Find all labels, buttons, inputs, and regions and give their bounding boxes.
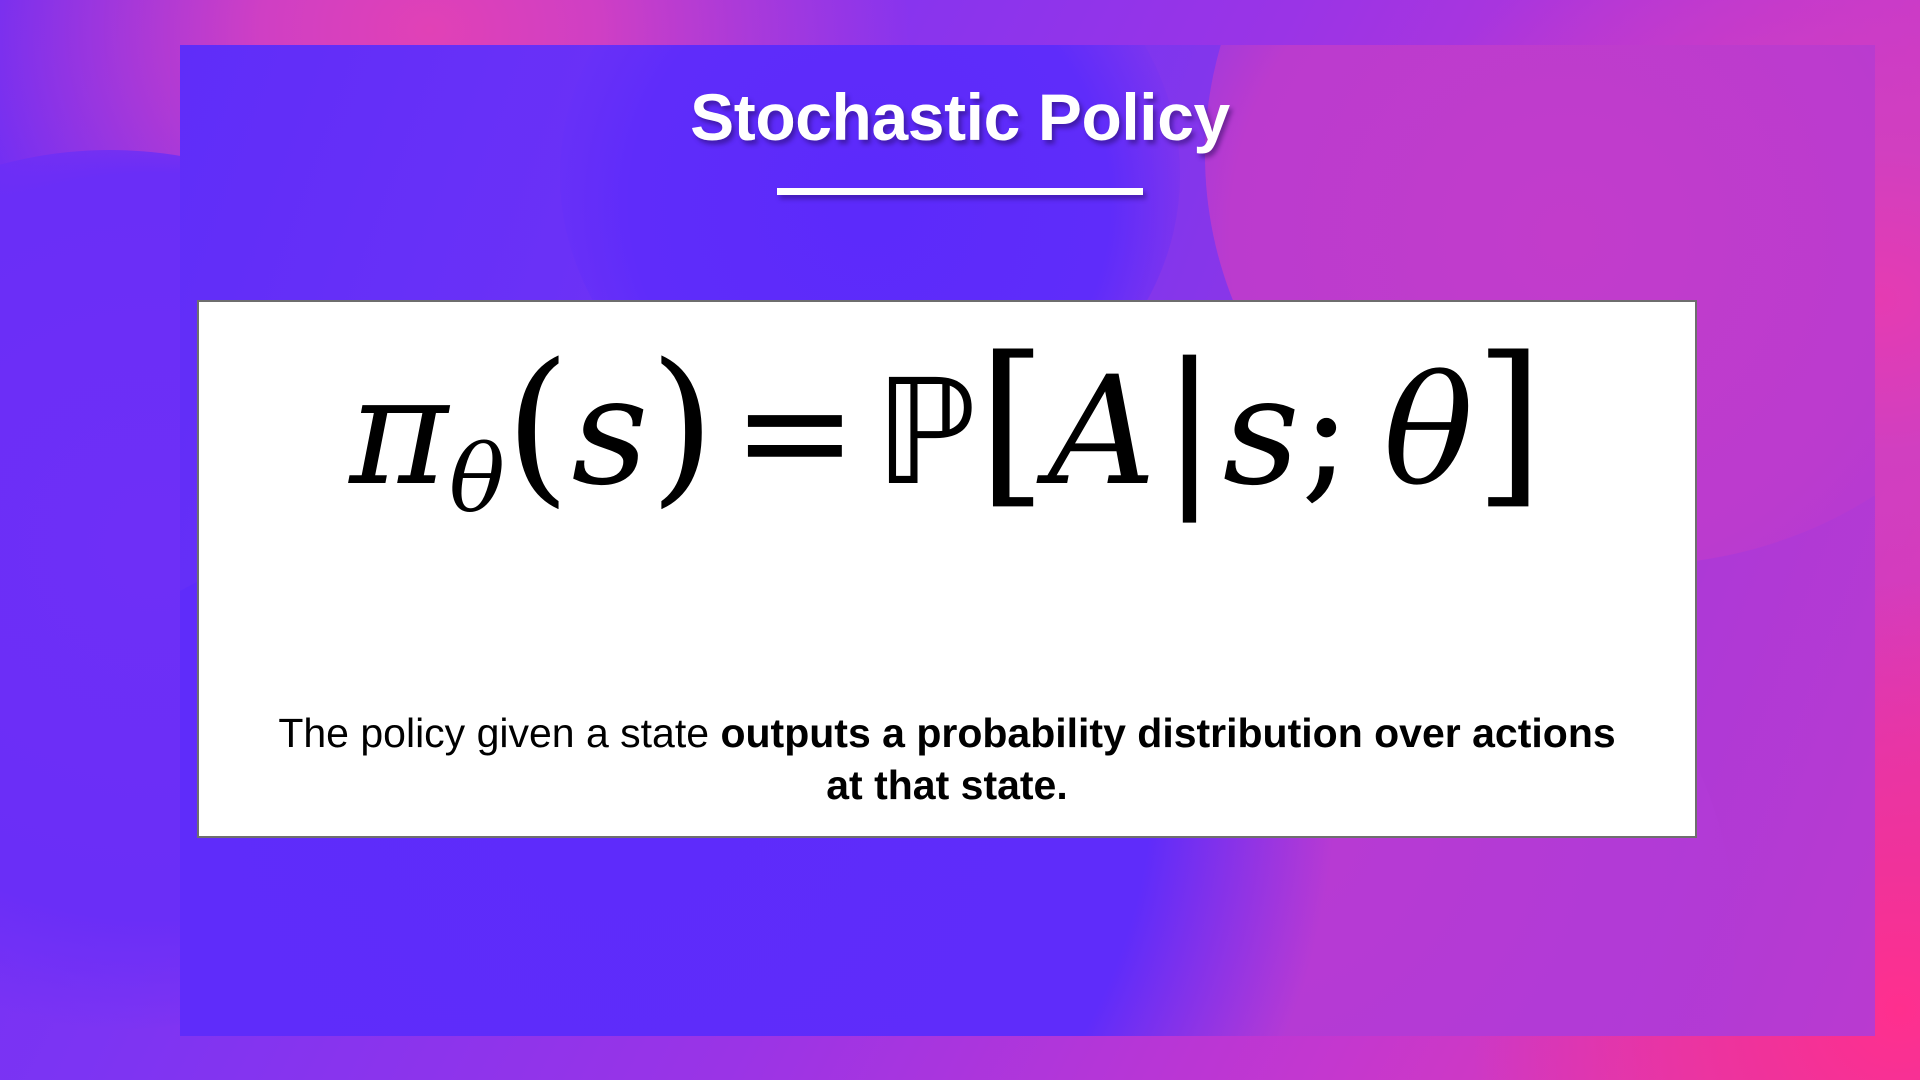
formula-semicolon: ; [1301, 345, 1353, 519]
formula-open-paren: ( [505, 327, 572, 523]
title-block: Stochastic Policy [0, 84, 1920, 195]
formula-close-paren: ) [650, 327, 717, 523]
slide-root: Stochastic Policy πθ(s)=ℙ[A|s; θ] The po… [0, 0, 1920, 1080]
formula-card: πθ(s)=ℙ[A|s; θ] The policy given a state… [197, 300, 1697, 838]
formula-action-symbol: A [1048, 345, 1157, 519]
formula-equals-sign: = [716, 345, 875, 519]
formula-close-bracket: ] [1475, 319, 1545, 525]
page-title: Stochastic Policy [690, 84, 1230, 150]
caption-regular-text: The policy given a state [278, 710, 720, 756]
formula-probability-symbol: ℙ [875, 349, 978, 518]
caption-bold-text: outputs a probability distribution over … [720, 710, 1615, 808]
formula-state-symbol-2: s [1223, 345, 1301, 519]
formula-open-bracket: [ [978, 319, 1048, 525]
formula-caption: The policy given a state outputs a proba… [271, 707, 1623, 812]
title-underline-rule [777, 188, 1143, 195]
formula-theta-symbol: θ [1352, 345, 1474, 519]
formula-pi-symbol: π [349, 345, 449, 519]
formula-conditional-bar: | [1157, 327, 1223, 523]
policy-formula: πθ(s)=ℙ[A|s; θ] [199, 330, 1695, 529]
formula-theta-subscript: θ [449, 425, 505, 533]
formula-state-symbol: s [572, 345, 650, 519]
